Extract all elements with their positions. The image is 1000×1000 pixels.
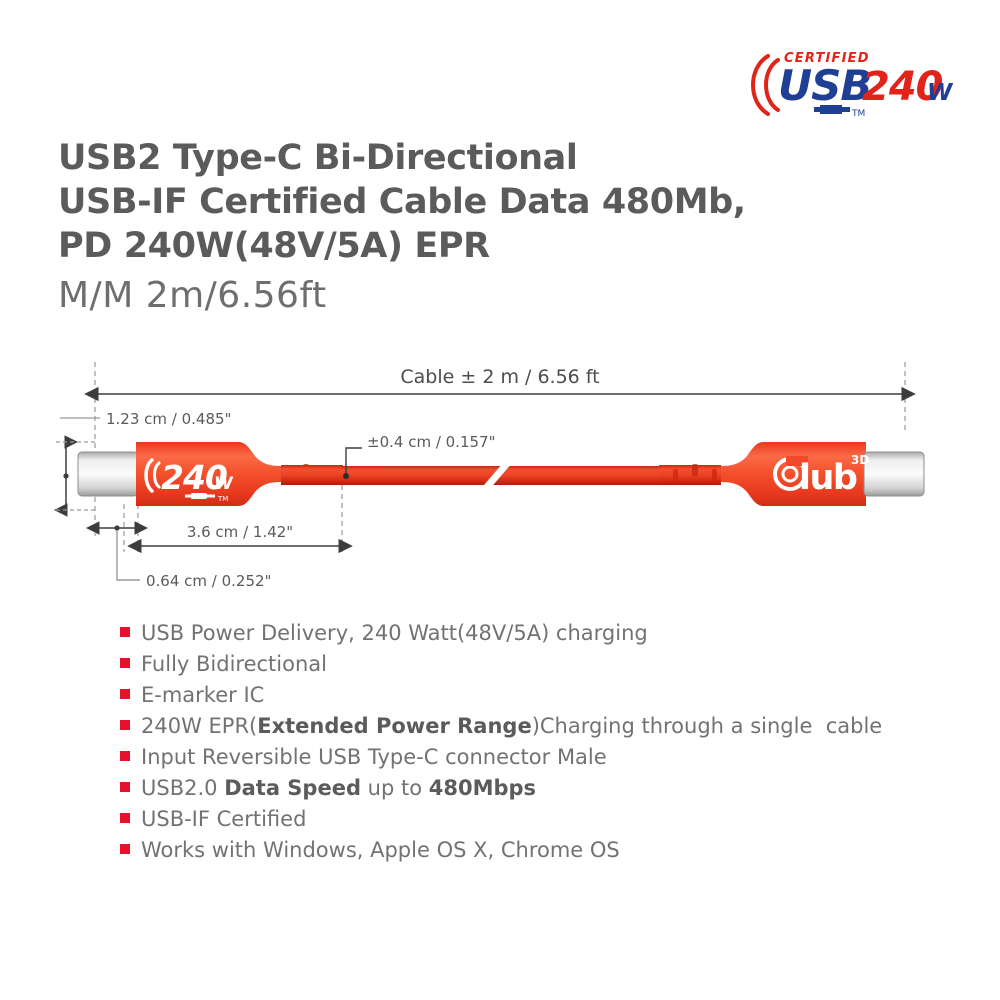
cable-diameter-label: ±0.4 cm / 0.157"	[367, 433, 495, 451]
connector-height-label: 1.23 cm / 0.485"	[106, 410, 231, 428]
title-line-1: USB2 Type-C Bi-Directional	[58, 136, 938, 180]
feature-item-label: E-marker IC	[141, 680, 264, 711]
tip-length-leader-line	[117, 530, 140, 580]
feature-plain: 240W EPR(	[141, 714, 257, 738]
logo-arc-inner	[766, 60, 778, 110]
feature-item: 240W EPR(Extended Power Range)Charging t…	[120, 711, 980, 742]
bullet-square-icon	[120, 627, 130, 637]
bullet-square-icon	[120, 689, 130, 699]
bullet-square-icon	[120, 782, 130, 792]
feature-item-label: USB2.0 Data Speed up to 480Mbps	[141, 773, 536, 804]
feature-item: Works with Windows, Apple OS X, Chrome O…	[120, 835, 980, 866]
page-title: USB2 Type-C Bi-Directional USB-IF Certif…	[58, 136, 938, 320]
feature-plain: USB-IF Certified	[141, 807, 306, 831]
feature-plain: USB2.0	[141, 776, 224, 800]
club3d-logo-text: lub	[799, 458, 857, 498]
feature-item: USB2.0 Data Speed up to 480Mbps	[120, 773, 980, 804]
feature-emphasis: Extended Power Range	[257, 714, 531, 738]
240w-badge-trademark: TM	[217, 495, 228, 503]
feature-item-label: USB-IF Certified	[141, 804, 306, 835]
usb-certified-logo: CERTIFIED USB 240 W TM	[742, 48, 957, 120]
feature-item-label: 240W EPR(Extended Power Range)Charging t…	[141, 711, 882, 742]
bullet-square-icon	[120, 813, 130, 823]
feature-plain: )Charging through a single cable	[532, 714, 883, 738]
feature-item: E-marker IC	[120, 680, 980, 711]
right-strain-relief	[659, 465, 721, 485]
logo-watt-unit: W	[927, 80, 954, 106]
feature-plain: USB Power Delivery, 240 Watt(48V/5A) cha…	[141, 621, 648, 645]
feature-plain: up to	[361, 776, 429, 800]
feature-plain: Works with Windows, Apple OS X, Chrome O…	[141, 838, 620, 862]
feature-emphasis: 480Mbps	[429, 776, 536, 800]
cable-illustration: 240 W TM	[78, 442, 924, 506]
overall-length-label: Cable ± 2 m / 6.56 ft	[400, 366, 599, 388]
title-line-3: PD 240W(48V/5A) EPR	[58, 224, 938, 268]
feature-plain: E-marker IC	[141, 683, 264, 707]
left-strain-relief	[281, 465, 343, 485]
title-line-2: USB-IF Certified Cable Data 480Mb,	[58, 180, 938, 224]
feature-list: USB Power Delivery, 240 Watt(48V/5A) cha…	[120, 618, 980, 866]
logo-usb-text: USB	[778, 61, 871, 110]
feature-item: Fully Bidirectional	[120, 649, 980, 680]
feature-item: USB Power Delivery, 240 Watt(48V/5A) cha…	[120, 618, 980, 649]
tip-length-label: 0.64 cm / 0.252"	[146, 572, 271, 590]
240w-badge-unit: W	[214, 474, 234, 494]
feature-plain: Fully Bidirectional	[141, 652, 327, 676]
feature-item: Input Reversible USB Type-C connector Ma…	[120, 742, 980, 773]
bullet-square-icon	[120, 844, 130, 854]
feature-plain: Input Reversible USB Type-C connector Ma…	[141, 745, 607, 769]
connector-length-label: 3.6 cm / 1.42"	[187, 523, 293, 541]
feature-item-label: Works with Windows, Apple OS X, Chrome O…	[141, 835, 620, 866]
feature-emphasis: Data Speed	[224, 776, 361, 800]
bullet-square-icon	[120, 658, 130, 668]
feature-item: USB-IF Certified	[120, 804, 980, 835]
bullet-square-icon	[120, 720, 130, 730]
cable-dimension-diagram: Cable ± 2 m / 6.56 ft 1.23 cm / 0.485"	[0, 356, 1000, 606]
bullet-square-icon	[120, 751, 130, 761]
tip-length-dot	[114, 525, 119, 530]
feature-item-label: USB Power Delivery, 240 Watt(48V/5A) cha…	[141, 618, 648, 649]
club3d-logo-superscript: 3D	[851, 453, 869, 467]
title-subtitle: M/M 2m/6.56ft	[58, 272, 938, 320]
feature-item-label: Fully Bidirectional	[141, 649, 327, 680]
diameter-leader-dot	[343, 473, 349, 479]
height-dimension-dot	[63, 473, 68, 478]
left-connector-metal-tip	[78, 452, 138, 496]
logo-trademark: TM	[851, 109, 865, 119]
feature-item-label: Input Reversible USB Type-C connector Ma…	[141, 742, 607, 773]
right-connector-metal-tip	[864, 452, 924, 496]
